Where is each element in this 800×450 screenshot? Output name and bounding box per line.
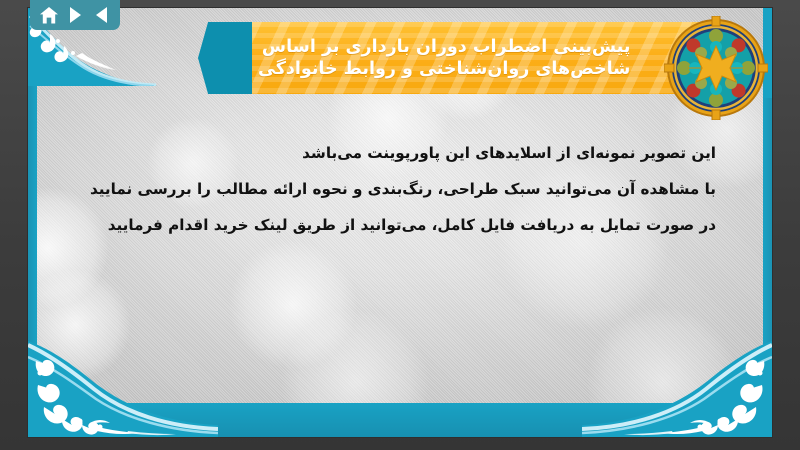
banner-arrow-shape — [198, 22, 254, 94]
arrow-left-icon — [96, 7, 107, 23]
previous-slide-button[interactable] — [92, 6, 110, 24]
home-button[interactable] — [40, 6, 58, 24]
body-line-1: این تصویر نمونه‌ای از اسلایدهای این پاور… — [68, 140, 716, 166]
slide-body-text: این تصویر نمونه‌ای از اسلایدهای این پاور… — [68, 140, 716, 248]
slide-title-line-2: شاخص‌های روان‌شناختی و روابط خانوادگی — [258, 58, 630, 80]
next-slide-button[interactable] — [66, 6, 84, 24]
slide-viewer: پیش‌بینی اضطراب دوران بارداری بر اساس شا… — [0, 0, 800, 450]
home-icon — [40, 7, 58, 24]
arrow-right-icon — [70, 7, 81, 23]
body-line-2: با مشاهده آن می‌توانید سبک طراحی، رنگ‌بن… — [68, 176, 716, 202]
mandala-ornament-icon — [664, 16, 768, 120]
banner-body: پیش‌بینی اضطراب دوران بارداری بر اساس شا… — [252, 22, 712, 94]
frame-border-bottom — [28, 403, 772, 437]
slide-title: پیش‌بینی اضطراب دوران بارداری بر اساس شا… — [258, 36, 634, 81]
slide-canvas: پیش‌بینی اضطراب دوران بارداری بر اساس شا… — [28, 8, 772, 437]
frame-border-left — [28, 8, 37, 437]
body-line-3: در صورت تمایل به دریافت فایل کامل، می‌تو… — [68, 212, 716, 238]
slide-title-line-1: پیش‌بینی اضطراب دوران بارداری بر اساس — [258, 36, 630, 58]
navigation-bar — [30, 0, 120, 30]
title-banner: پیش‌بینی اضطراب دوران بارداری بر اساس شا… — [198, 22, 758, 94]
